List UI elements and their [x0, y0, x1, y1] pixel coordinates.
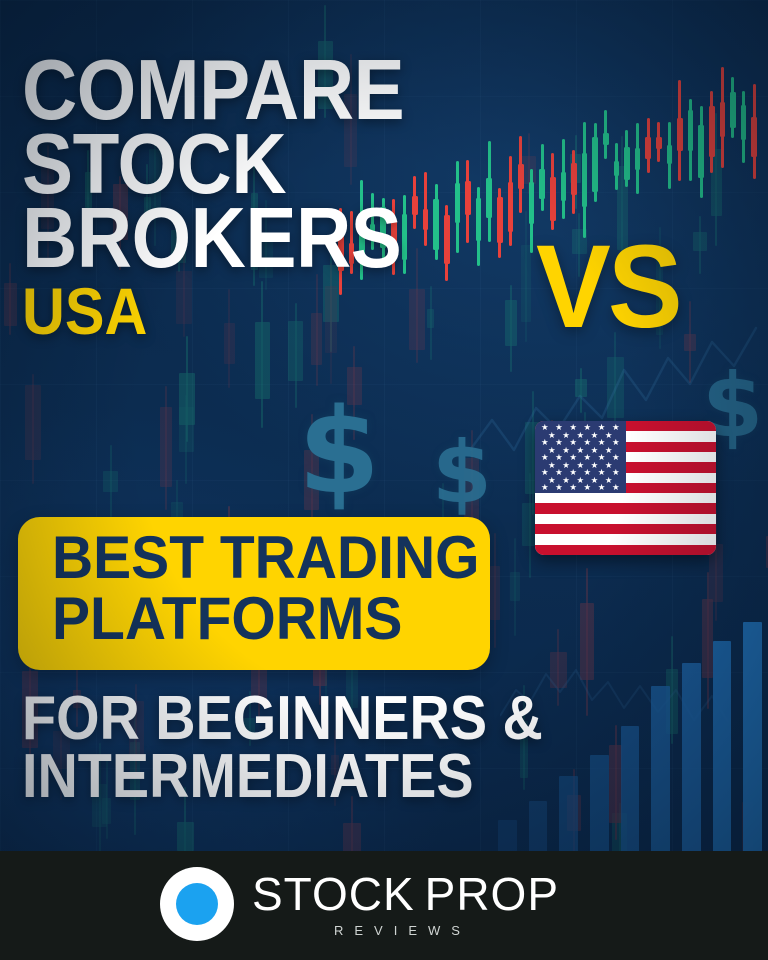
poster-canvas: $ $ $ COMPARE STOCK BROKERS USA VS ★★★★★… — [0, 0, 768, 960]
logo-circle-icon — [160, 867, 234, 941]
brand-logo: STOCKPROP REVIEWS — [160, 867, 559, 941]
logo-dot-icon — [176, 883, 218, 925]
logo-sub-line: REVIEWS — [334, 923, 559, 938]
logo-main-line: STOCKPROP — [252, 871, 559, 917]
vignette-overlay — [0, 0, 768, 960]
logo-wordmark: STOCKPROP REVIEWS — [252, 871, 559, 938]
logo-word-stock: STOCK — [252, 868, 415, 920]
logo-word-prop: PROP — [425, 868, 559, 920]
footer-bar: STOCKPROP REVIEWS — [0, 851, 768, 960]
